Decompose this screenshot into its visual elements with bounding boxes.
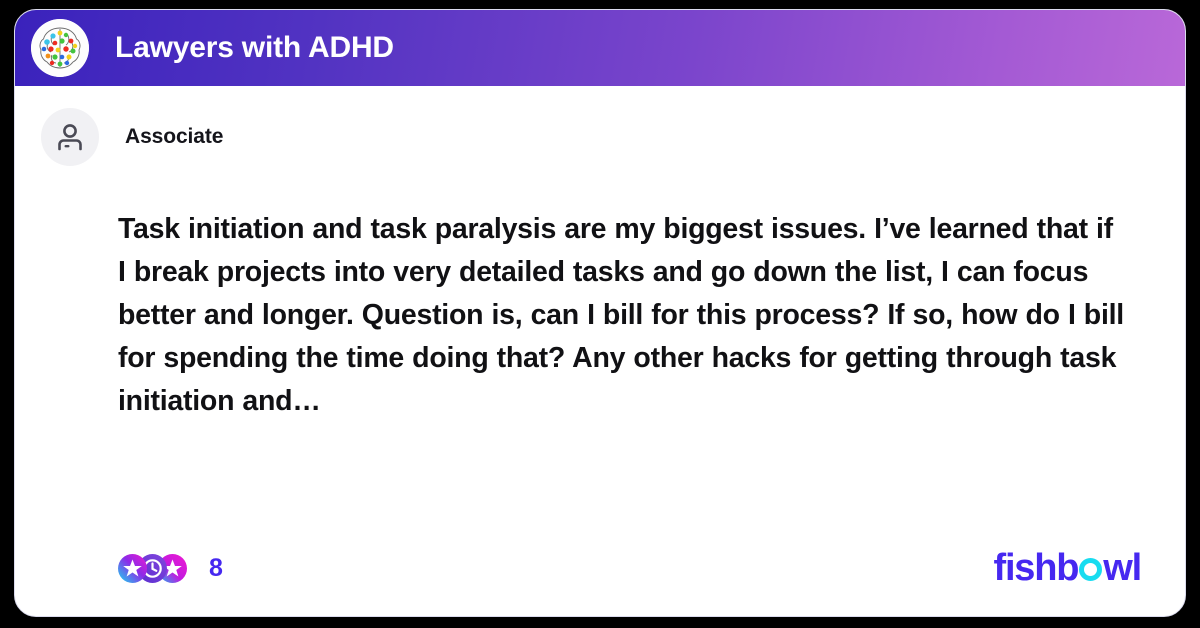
fishbowl-logo: fishb wl bbox=[994, 549, 1142, 587]
card-body: Associate Task initiation and task paral… bbox=[15, 86, 1185, 616]
brain-avatar-icon bbox=[31, 19, 89, 77]
reaction-count: 8 bbox=[209, 554, 223, 583]
screenshot-stage: Lawyers with ADHD Associate Task initiat… bbox=[0, 0, 1200, 628]
fishbowl-logo-text-before: fishb bbox=[994, 549, 1079, 587]
author-name: Associate bbox=[125, 125, 223, 149]
fishbowl-logo-o-ring-icon bbox=[1079, 558, 1102, 581]
card-header: Lawyers with ADHD bbox=[15, 10, 1185, 86]
star-reaction-icon[interactable] bbox=[118, 554, 147, 583]
fishbowl-logo-text-after: wl bbox=[1103, 549, 1141, 587]
post-body-text: Task initiation and task paralysis are m… bbox=[118, 208, 1125, 423]
reaction-badge-stack[interactable] bbox=[118, 554, 187, 583]
card-footer: 8 fishb wl bbox=[15, 520, 1185, 616]
person-icon bbox=[41, 108, 99, 166]
reactions-group[interactable]: 8 bbox=[118, 554, 223, 583]
post-card: Lawyers with ADHD Associate Task initiat… bbox=[14, 9, 1186, 617]
author-row: Associate bbox=[15, 86, 1185, 166]
group-title: Lawyers with ADHD bbox=[115, 31, 394, 65]
